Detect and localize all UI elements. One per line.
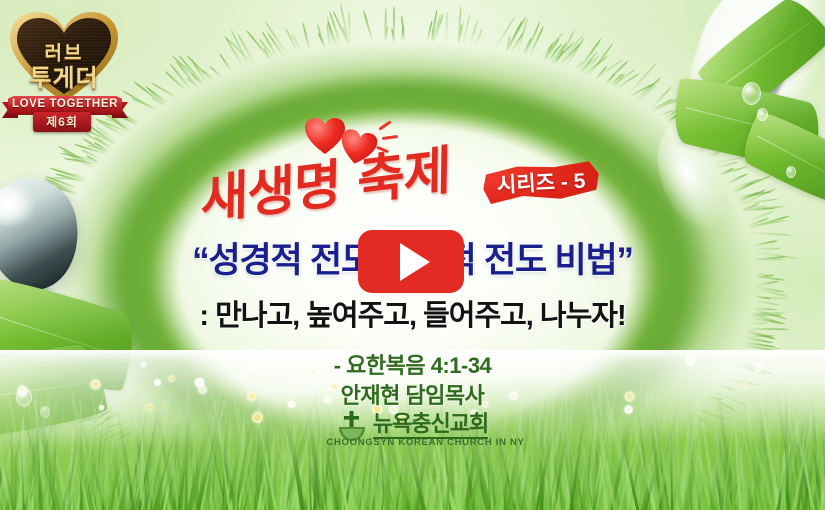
logo-korean-line2: 투게더 <box>10 58 118 93</box>
play-triangle-icon <box>400 243 430 281</box>
speaker-name: 안재현 담임목사 <box>0 378 825 410</box>
play-button[interactable] <box>358 230 464 293</box>
video-thumbnail: 러브 투게더 LOVE TOGETHER 제6회 새생명 축제 시리즈 - 5 … <box>0 0 825 510</box>
love-together-logo: 러브 투게더 LOVE TOGETHER 제6회 <box>2 12 128 124</box>
heart-logo-icon: 러브 투게더 <box>10 12 118 104</box>
dewdrop-leaf-2 <box>757 108 768 121</box>
edition-badge: 제6회 <box>33 112 91 132</box>
subtitle: : 만나고, 높여주고, 들어주고, 나누자! <box>0 292 825 334</box>
church-name-english: CHOONGSYN KOREAN CHURCH IN NY <box>0 437 825 448</box>
church-name-korean: 뉴욕충신교회 <box>373 413 488 439</box>
dewdrop-leaf-1 <box>742 82 761 105</box>
ribbon-text: LOVE TOGETHER <box>2 98 128 110</box>
dewdrop-leaf-3 <box>786 166 796 178</box>
scripture-reference: - 요한복음 4:1-34 <box>0 348 825 380</box>
